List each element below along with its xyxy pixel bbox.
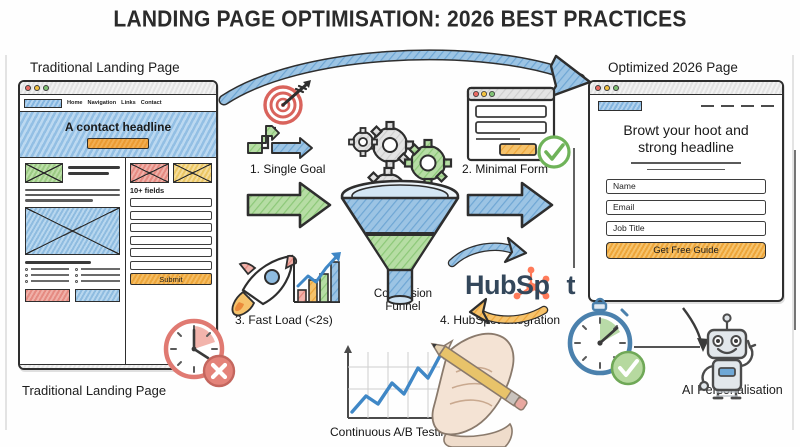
nav-dash[interactable] bbox=[701, 105, 714, 107]
image-placeholder-yellow bbox=[173, 163, 212, 183]
image-placeholder-green bbox=[25, 163, 63, 183]
text-line bbox=[25, 261, 91, 264]
text-line bbox=[31, 268, 69, 270]
text-line bbox=[81, 268, 119, 270]
text-line bbox=[68, 172, 109, 175]
step-label-single-goal: 1. Single Goal bbox=[250, 162, 325, 176]
browser-chrome-right bbox=[590, 82, 782, 95]
text-line bbox=[81, 280, 119, 282]
input-job-title[interactable]: Job Title bbox=[606, 221, 766, 236]
text-line bbox=[81, 274, 119, 276]
text-line bbox=[25, 194, 120, 196]
window-minimize-dot[interactable] bbox=[34, 85, 40, 91]
headline-line-2: strong headline bbox=[598, 139, 774, 156]
target-icon bbox=[265, 80, 311, 123]
form-field[interactable] bbox=[130, 223, 212, 232]
funnel-label-line-1: Conversion bbox=[368, 288, 438, 301]
form-field[interactable] bbox=[130, 236, 212, 245]
bar-1 bbox=[298, 290, 306, 302]
nav-link-navigation[interactable]: Navigation bbox=[88, 100, 117, 106]
infographic-canvas: LANDING PAGE OPTIMISATION: 2026 BEST PRA… bbox=[0, 0, 800, 447]
bar-4 bbox=[331, 262, 339, 302]
button-placeholder-blue[interactable] bbox=[75, 289, 120, 302]
rocket-icon bbox=[232, 256, 296, 315]
step-label-fast-load: 3. Fast Load (<2s) bbox=[235, 313, 333, 327]
bullet-icon bbox=[75, 274, 78, 277]
label-ab-testing: Continuous A/B Testing bbox=[330, 425, 454, 439]
left-page-body: 10+ fields Submit bbox=[20, 158, 216, 364]
text-line bbox=[31, 274, 69, 276]
label-conversion-funnel: Conversion Funnel bbox=[368, 288, 438, 314]
headline-line-1: Browt your hoot and bbox=[598, 122, 774, 139]
right-hero-headline: Browt your hoot and strong headline bbox=[598, 122, 774, 155]
step-label-minimal-form: 2. Minimal Form bbox=[462, 162, 548, 176]
text-line bbox=[31, 280, 69, 282]
ab-testing-chart-icon bbox=[344, 345, 453, 422]
left-hero-section: A contact headline bbox=[20, 112, 216, 158]
window-minimize-dot[interactable] bbox=[604, 85, 610, 91]
funnel-label-line-2: Funnel bbox=[368, 301, 438, 314]
minimal-form-mockup-icon bbox=[468, 88, 554, 160]
nav-dash[interactable] bbox=[741, 105, 754, 107]
left-page-footer bbox=[20, 364, 216, 370]
left-navbar: Home Navigation Links Contact bbox=[20, 95, 216, 112]
right-navbar bbox=[590, 95, 782, 117]
bar-2 bbox=[309, 280, 317, 302]
mini-cta-button bbox=[500, 144, 536, 155]
curved-blue-arrow-icon bbox=[224, 55, 590, 100]
text-line bbox=[25, 199, 93, 201]
nav-link-links[interactable]: Links bbox=[121, 100, 136, 106]
browser-chrome-left bbox=[20, 82, 216, 95]
bullet-icon bbox=[25, 280, 28, 283]
form-field-count-label: 10+ fields bbox=[130, 186, 216, 195]
divider-rule bbox=[631, 162, 741, 164]
image-placeholder-blue bbox=[25, 207, 120, 255]
blue-right-arrow-icon bbox=[468, 183, 552, 227]
hubspot-wordmark-main: HubSp bbox=[465, 270, 550, 300]
conversion-funnel-icon bbox=[342, 181, 458, 304]
text-line bbox=[25, 189, 120, 191]
stopwatch-with-check-icon bbox=[570, 299, 644, 384]
bullet-icon bbox=[25, 274, 28, 277]
image-placeholder-red bbox=[130, 163, 169, 183]
mini-bar-chart-icon bbox=[294, 252, 341, 302]
form-field[interactable] bbox=[130, 261, 212, 270]
caption-right-bottom: AI Personalisation bbox=[682, 383, 783, 397]
step-label-hubspot-integration: 4. HubSpot Integration bbox=[440, 313, 560, 327]
green-right-arrow-icon bbox=[248, 183, 330, 227]
left-form-column: 10+ fields Submit bbox=[126, 158, 216, 364]
nav-dash[interactable] bbox=[761, 105, 774, 107]
caption-left-top: Traditional Landing Page bbox=[30, 60, 180, 75]
traditional-landing-page-mockup: Home Navigation Links Contact A contact … bbox=[18, 80, 218, 370]
window-maximize-dot[interactable] bbox=[613, 85, 619, 91]
input-email[interactable]: Email bbox=[606, 200, 766, 215]
form-field[interactable] bbox=[130, 198, 212, 207]
text-line bbox=[68, 166, 120, 169]
logo-placeholder bbox=[598, 101, 642, 111]
hubspot-logo: HubSpt bbox=[465, 270, 575, 301]
nav-dash[interactable] bbox=[721, 105, 734, 107]
caption-left-bottom: Traditional Landing Page bbox=[22, 383, 166, 398]
optimized-landing-page-mockup: Browt your hoot and strong headline Name… bbox=[588, 80, 784, 302]
nav-dashes bbox=[701, 105, 774, 107]
logo-placeholder bbox=[24, 99, 62, 108]
hubspot-wordmark-tail: t bbox=[567, 270, 576, 300]
merge-arrow-icon bbox=[248, 126, 312, 158]
window-close-dot[interactable] bbox=[25, 85, 31, 91]
mini-form-field bbox=[476, 106, 546, 117]
nav-link-contact[interactable]: Contact bbox=[141, 100, 162, 106]
left-content-column bbox=[20, 158, 126, 364]
window-maximize-dot[interactable] bbox=[43, 85, 49, 91]
gears-icon bbox=[349, 122, 451, 216]
curved-down-arrow-icon bbox=[683, 308, 709, 352]
bullet-icon bbox=[75, 268, 78, 271]
window-close-dot[interactable] bbox=[595, 85, 601, 91]
nav-link-home[interactable]: Home bbox=[67, 100, 83, 106]
submit-button[interactable]: Submit bbox=[130, 273, 212, 285]
blue-curved-arrow-icon bbox=[452, 238, 526, 263]
form-field[interactable] bbox=[130, 248, 212, 257]
button-placeholder-red[interactable] bbox=[25, 289, 70, 302]
bullet-icon bbox=[75, 280, 78, 283]
input-name[interactable]: Name bbox=[606, 179, 766, 194]
page-title: LANDING PAGE OPTIMISATION: 2026 BEST PRA… bbox=[0, 7, 800, 33]
divider-rule bbox=[647, 169, 725, 170]
mini-form-field bbox=[476, 122, 546, 133]
left-hero-headline: A contact headline bbox=[65, 120, 171, 134]
bar-3 bbox=[320, 274, 328, 302]
form-field[interactable] bbox=[130, 211, 212, 220]
caption-right-top: Optimized 2026 Page bbox=[608, 60, 738, 75]
left-hero-cta-button[interactable] bbox=[87, 138, 149, 149]
bullet-icon bbox=[25, 268, 28, 271]
get-free-guide-button[interactable]: Get Free Guide bbox=[606, 242, 766, 259]
